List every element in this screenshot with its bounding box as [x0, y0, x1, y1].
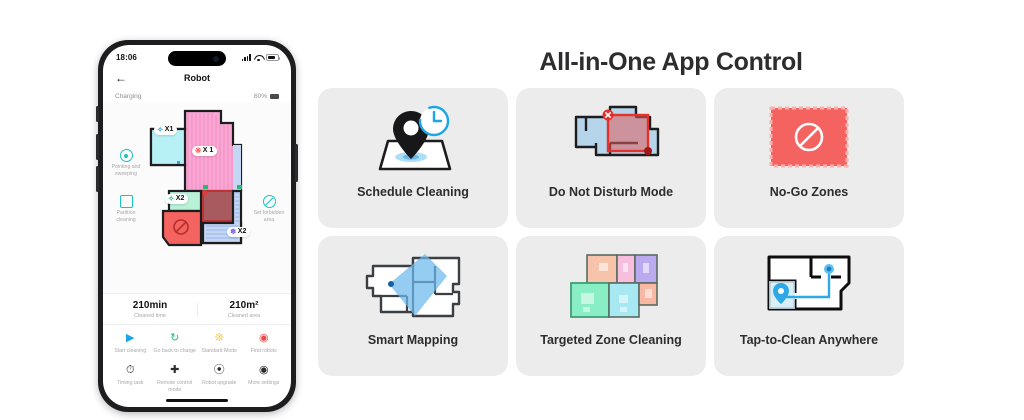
room-badge[interactable]: ❊ X 1 — [192, 146, 217, 156]
phone-mockup: 18:06 ← Robot Charging 60% — [98, 40, 298, 420]
tool-label: Find robots — [242, 348, 287, 355]
wifi-icon — [254, 54, 263, 61]
stat-label: Cleaned time — [103, 313, 197, 319]
feature-label: Schedule Cleaning — [351, 186, 475, 200]
robot-map[interactable]: ✧ X1 ❊ X 1 ✧ X2 ❄ X2 — [103, 103, 291, 293]
tool-remote-control-mode[interactable]: ✚ Remote control mode — [153, 364, 198, 394]
tool-grid: ▶ Start cleaning ↻ Go back to charge ❊ S… — [103, 325, 291, 393]
floorplan-red-zone-icon — [552, 99, 670, 175]
volume-up-button[interactable] — [96, 134, 99, 160]
square-icon — [120, 195, 133, 208]
volume-down-button[interactable] — [96, 166, 99, 192]
map-floorplan-svg[interactable] — [129, 105, 269, 291]
tool-robot-upgrade[interactable]: ⦿ Robot upgrade — [197, 364, 242, 394]
card-artwork — [516, 88, 706, 186]
colored-rooms-icon — [553, 247, 669, 323]
section-heading: All-in-One App Control — [318, 48, 1024, 77]
charging-label: Charging — [115, 93, 141, 100]
stat-label: Cleaned area — [197, 313, 291, 319]
card-artwork — [714, 236, 904, 334]
card-artwork — [714, 88, 904, 186]
home-indicator[interactable] — [166, 399, 228, 402]
tool-label: Robot upgrade — [197, 380, 242, 387]
charging-status-row: Charging 60% — [103, 89, 291, 103]
feature-label: Do Not Disturb Mode — [543, 186, 679, 200]
room-badge-label: X2 — [238, 228, 247, 235]
floorplan-path-pin-icon — [751, 247, 867, 323]
stat-value: 210min — [103, 300, 197, 311]
room-badge-label: X1 — [165, 126, 174, 133]
battery-status: 60% — [254, 93, 279, 100]
map-action-label: Pointing and sweeping — [107, 164, 145, 177]
card-artwork — [318, 236, 508, 334]
map-action-set-forbidden-area[interactable]: Set forbidden area — [250, 195, 288, 223]
map-action-label: Set forbidden area — [250, 210, 288, 223]
recharge-icon: ↻ — [153, 332, 198, 345]
clock-icon: ⏱ — [108, 364, 153, 377]
status-indicators — [242, 54, 279, 61]
feature-label: No-Go Zones — [764, 186, 854, 200]
status-bar: 18:06 — [103, 45, 291, 67]
battery-mini-icon — [270, 94, 279, 99]
floorplan-lidar-icon — [351, 246, 475, 324]
phone-screen: 18:06 ← Robot Charging 60% — [103, 45, 291, 407]
forbidden-icon — [263, 195, 276, 208]
cleaning-stats: 210min Cleaned time 210m² Cleaned area — [103, 293, 291, 325]
map-action-label: Partition cleaning — [107, 210, 145, 223]
page-root: 18:06 ← Robot Charging 60% — [0, 0, 1024, 420]
feature-card-smart-mapping[interactable]: Smart Mapping — [318, 236, 508, 376]
tool-find-robots[interactable]: ◉ Find robots — [242, 332, 287, 355]
feature-card-targeted-zone-cleaning[interactable]: Targeted Zone Cleaning — [516, 236, 706, 376]
tool-standard-mode[interactable]: ❊ Standard Mode — [197, 332, 242, 355]
settings-icon: ◉ — [242, 364, 287, 377]
stat-value: 210m² — [197, 300, 291, 311]
feature-label: Smart Mapping — [362, 334, 464, 348]
feature-grid: Schedule Cleaning — [318, 88, 904, 376]
map-action-partition-cleaning[interactable]: Partition cleaning — [107, 195, 145, 223]
room-badge-label: X2 — [176, 195, 185, 202]
app-navbar: ← Robot — [103, 67, 291, 89]
status-time: 18:06 — [116, 53, 137, 62]
signal-bars-icon — [242, 54, 251, 61]
red-forbidden-rect-icon — [761, 100, 857, 174]
battery-icon — [266, 54, 279, 61]
mop-icon: ✧ — [168, 195, 174, 203]
tool-label: Go back to charge — [153, 348, 198, 355]
card-artwork — [516, 236, 706, 334]
stat-cleaned-area: 210m² Cleaned area — [197, 300, 291, 319]
feature-label: Targeted Zone Cleaning — [534, 334, 687, 348]
tool-label: Remote control mode — [153, 380, 198, 394]
card-artwork — [318, 88, 508, 186]
upgrade-icon: ⦿ — [197, 364, 242, 377]
tool-go-back-to-charge[interactable]: ↻ Go back to charge — [153, 332, 198, 355]
map-action-pointing-sweeping[interactable]: Pointing and sweeping — [107, 149, 145, 177]
feature-label: Tap-to-Clean Anywhere — [734, 334, 884, 348]
play-icon: ▶ — [108, 332, 153, 345]
fan-icon: ❊ — [197, 332, 242, 345]
tool-more-settings[interactable]: ◉ More settings — [242, 364, 287, 394]
features-panel: All-in-One App Control — [318, 0, 1024, 420]
tool-row: ▶ Start cleaning ↻ Go back to charge ❊ S… — [108, 332, 286, 355]
tool-start-cleaning[interactable]: ▶ Start cleaning — [108, 332, 153, 355]
tool-label: Standard Mode — [197, 348, 242, 355]
fan-icon: ❊ — [195, 147, 201, 155]
room-badge[interactable]: ❄ X2 — [227, 227, 250, 237]
feature-card-do-not-disturb[interactable]: Do Not Disturb Mode — [516, 88, 706, 228]
stat-cleaned-time: 210min Cleaned time — [103, 300, 197, 319]
tool-label: More settings — [242, 380, 287, 387]
page-title: Robot — [103, 73, 291, 83]
dpad-icon: ✚ — [153, 364, 198, 377]
feature-card-tap-to-clean[interactable]: Tap-to-Clean Anywhere — [714, 236, 904, 376]
feature-card-schedule-cleaning[interactable]: Schedule Cleaning — [318, 88, 508, 228]
power-button[interactable] — [295, 144, 298, 182]
tool-row: ⏱ Timing task ✚ Remote control mode ⦿ Ro… — [108, 364, 286, 394]
tool-label: Timing task — [108, 380, 153, 387]
find-robot-icon: ◉ — [242, 332, 287, 345]
silent-switch[interactable] — [96, 106, 99, 122]
target-icon — [120, 149, 133, 162]
tool-label: Start cleaning — [108, 348, 153, 355]
battery-percent: 60% — [254, 93, 267, 100]
tool-timing-task[interactable]: ⏱ Timing task — [108, 364, 153, 394]
room-badge[interactable]: ✧ X2 — [165, 194, 188, 204]
room-badge[interactable]: ✧ X1 — [154, 125, 177, 135]
room-badge-label: X 1 — [203, 147, 214, 154]
snowflake-icon: ❄ — [230, 228, 236, 236]
mop-icon: ✧ — [157, 126, 163, 134]
phone-frame: 18:06 ← Robot Charging 60% — [98, 40, 296, 412]
feature-card-no-go-zones[interactable]: No-Go Zones — [714, 88, 904, 228]
pin-clock-map-icon — [358, 97, 468, 177]
